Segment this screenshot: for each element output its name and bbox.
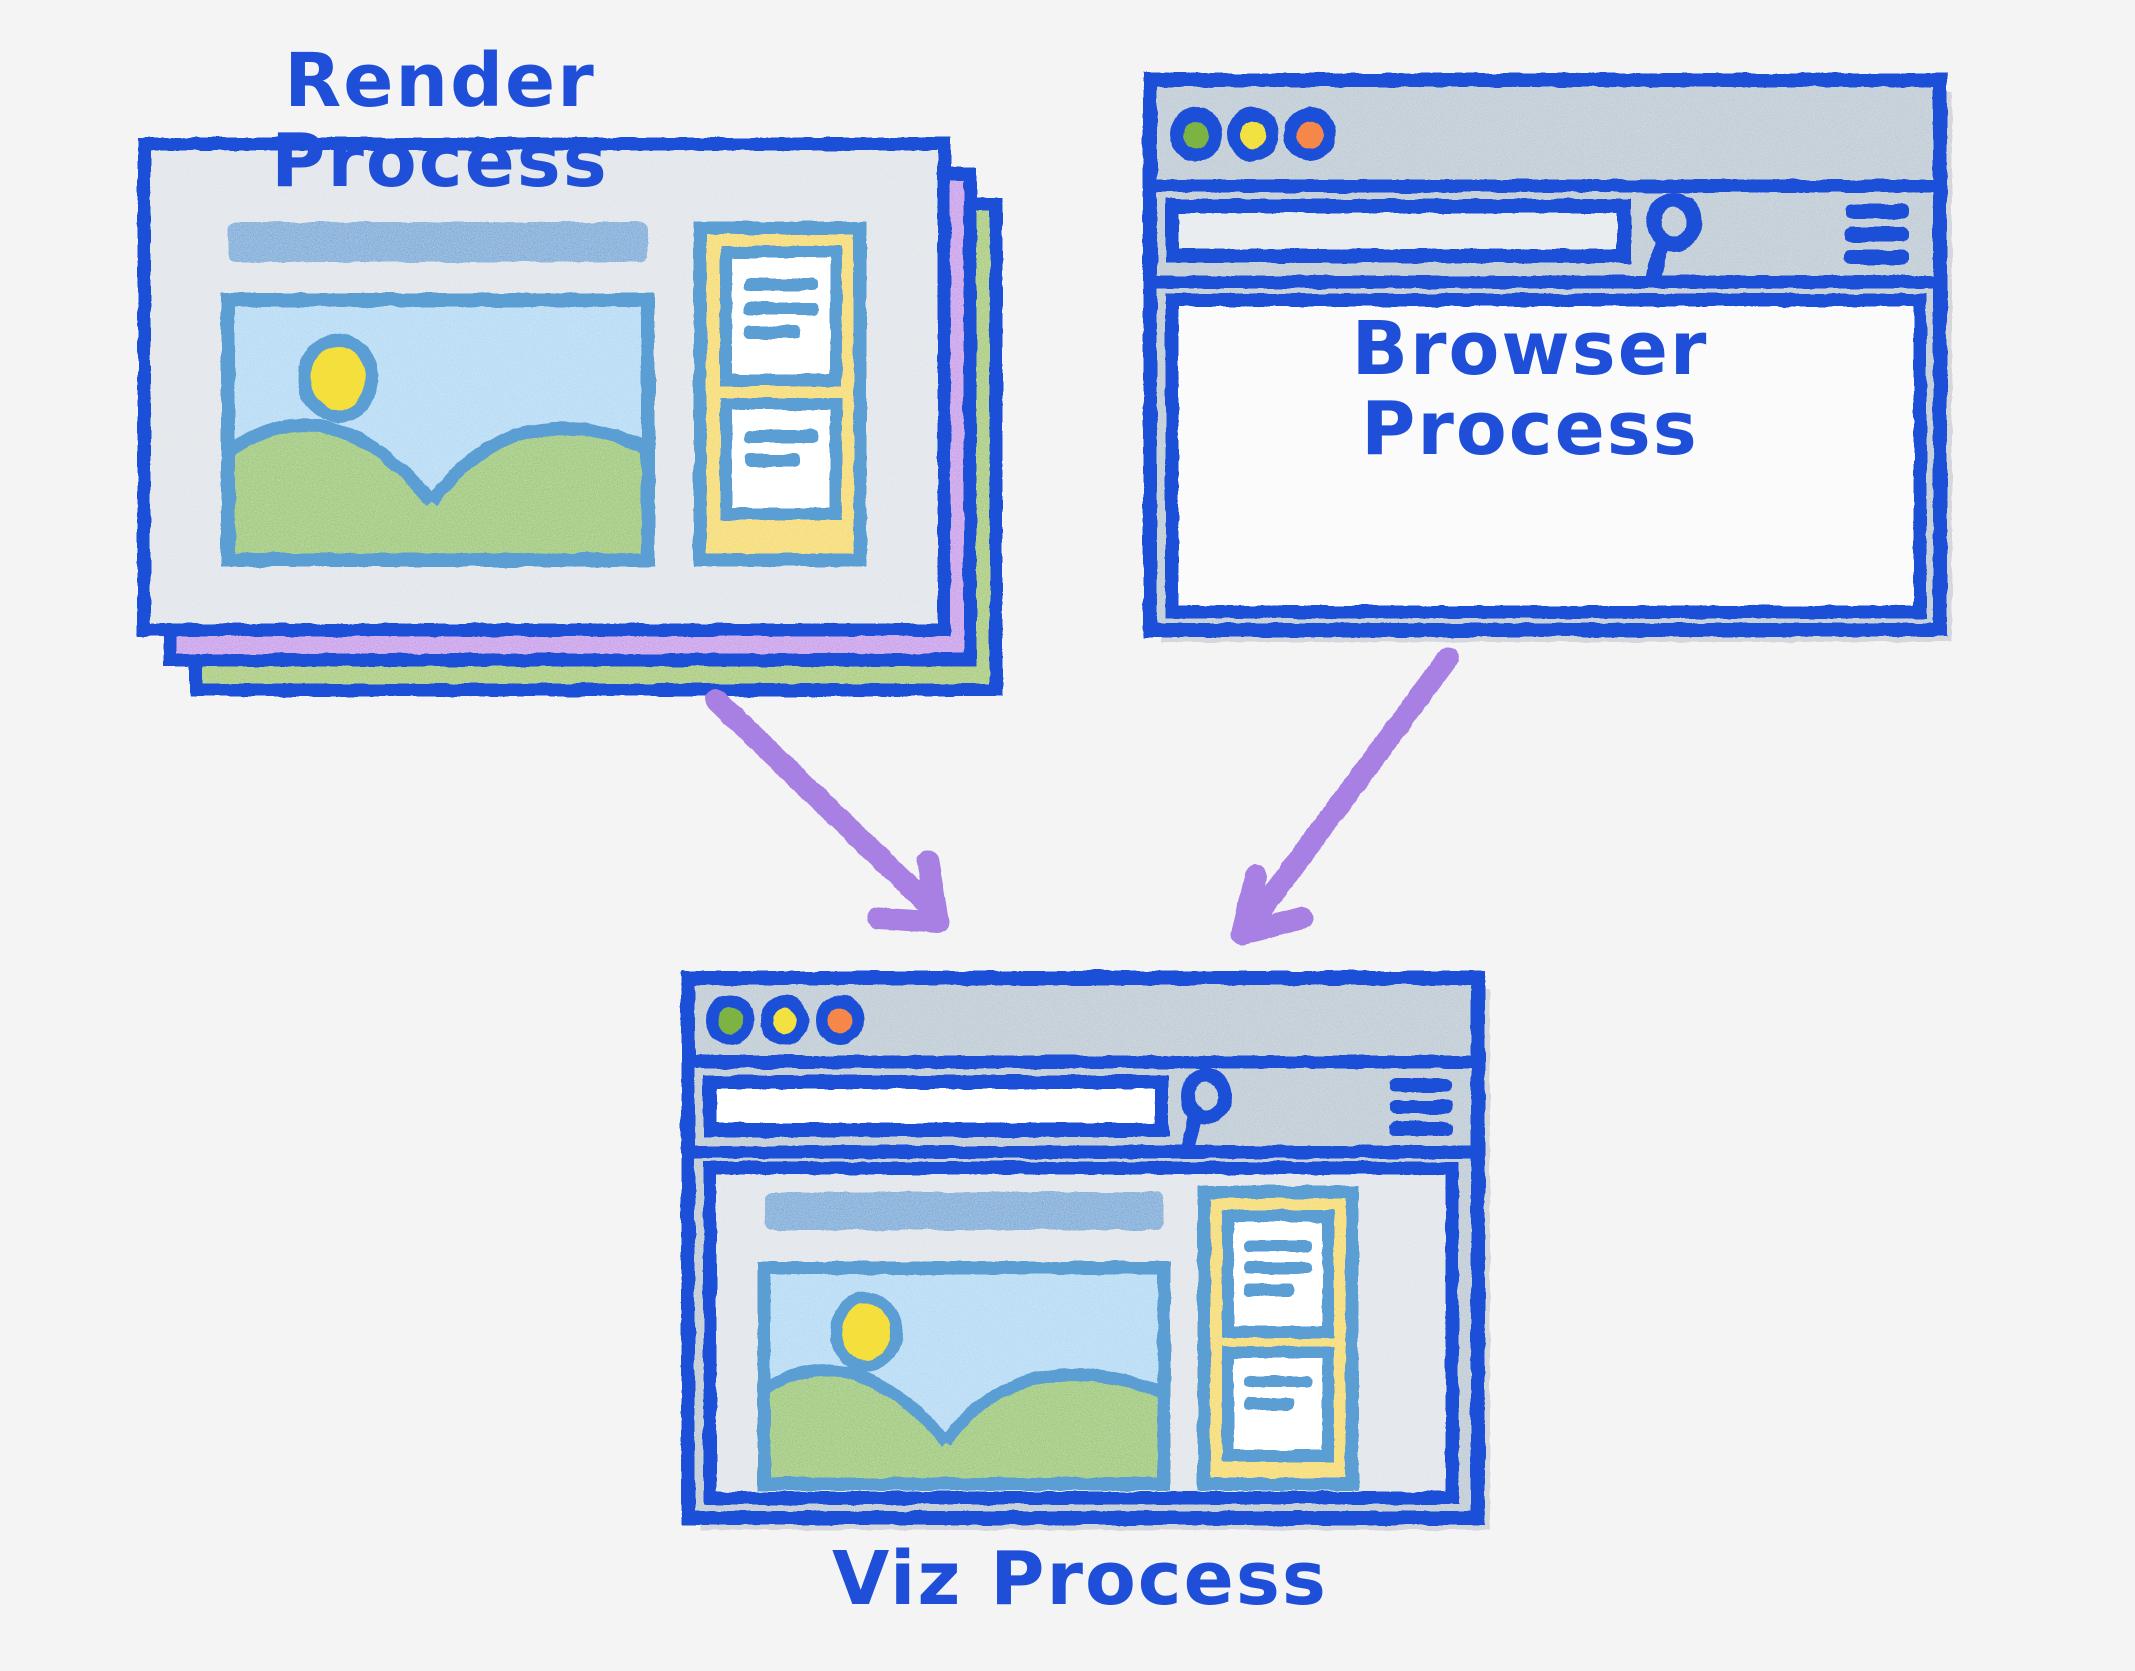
page-header-bar [228, 222, 648, 262]
sun-icon [304, 340, 372, 416]
browser-process-label: Browser Process [1270, 310, 1790, 470]
sun-icon [836, 1298, 896, 1366]
hamburger-menu-icon[interactable] [1390, 1078, 1452, 1136]
viz-process-label: Viz Process [760, 1540, 1400, 1620]
render-process-label: Render Process [120, 42, 760, 202]
viz-process-node[interactable] [688, 978, 1490, 1530]
url-bar [1172, 206, 1624, 256]
viz-url-bar [710, 1082, 1162, 1130]
landscape-image [228, 300, 648, 560]
diagram-svg [0, 0, 2135, 1671]
viz-content-area [710, 1168, 1452, 1498]
edge-browser-to-viz [1242, 658, 1448, 934]
edge-render-to-viz [716, 700, 938, 922]
traffic-lights[interactable] [1170, 107, 1336, 161]
diagram-canvas: Render Process Browser Process Viz Proce… [0, 0, 2135, 1671]
render-stack-layer-front[interactable] [144, 144, 944, 630]
hamburger-menu-icon[interactable] [1845, 204, 1909, 265]
page-header-bar [764, 1192, 1164, 1230]
page-sidebar [700, 228, 860, 560]
page-sidebar [1204, 1192, 1352, 1484]
landscape-image [764, 1268, 1164, 1484]
render-process-node[interactable] [144, 144, 996, 690]
viz-traffic-lights[interactable] [706, 995, 864, 1045]
